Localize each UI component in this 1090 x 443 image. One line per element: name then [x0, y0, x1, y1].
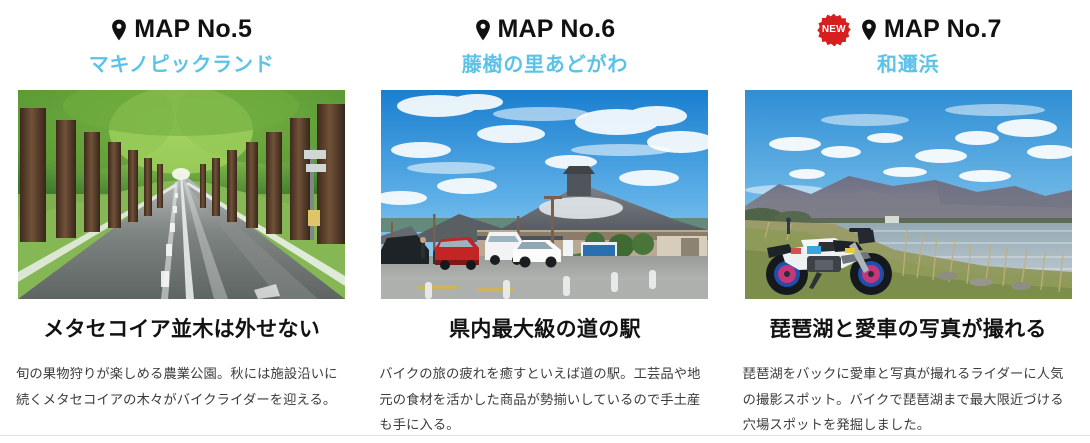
spot-photo-metasequoia-road[interactable]	[18, 90, 345, 299]
spot-photo-roadside-station[interactable]	[381, 90, 708, 299]
card-description: 旬の果物狩りが楽しめる農業公園。秋には施設沿いに続くメタセコイアの木々がバイクラ…	[15, 361, 348, 412]
map-number-label: MAP No.7	[884, 16, 1002, 44]
spot-photo-lake-biwa-motorcycle[interactable]	[745, 90, 1072, 299]
spot-name-label: マキノピックランド	[15, 53, 348, 77]
card-header: MAP No.6 藤樹の里あどがわ	[378, 0, 711, 77]
map-pin-icon	[111, 19, 127, 41]
spot-name-label: 藤樹の里あどがわ	[378, 53, 711, 77]
map-number-label: MAP No.5	[134, 16, 252, 44]
spot-name-label: 和邇浜	[742, 53, 1075, 77]
card-header: NEW MAP No.7 和邇浜	[742, 0, 1075, 77]
card-title: メタセコイア並木は外せない	[15, 317, 348, 343]
card-title: 県内最大級の道の駅	[378, 317, 711, 343]
card-description: バイクの旅の疲れを癒すといえば道の駅。工芸品や地元の食材を活かした商品が勢揃いし…	[378, 361, 711, 438]
bottom-divider	[0, 435, 1090, 436]
card-title: 琵琶湖と愛車の写真が撮れる	[742, 317, 1075, 343]
map-number-label: MAP No.6	[498, 16, 616, 44]
new-badge-label: NEW	[822, 25, 846, 35]
spot-card-map-no-5[interactable]: MAP No.5 マキノピックランド	[0, 0, 363, 438]
card-description: 琵琶湖をバックに愛車と写真が撮れるライダーに人気の撮影スポット。バイクで琵琶湖ま…	[742, 361, 1075, 438]
spot-card-map-no-6[interactable]: MAP No.6 藤樹の里あどがわ	[363, 0, 726, 438]
spot-card-grid: MAP No.5 マキノピックランド	[0, 0, 1090, 438]
map-label-row: MAP No.6	[378, 13, 711, 47]
map-label-row: NEW MAP No.7	[742, 13, 1075, 47]
card-header: MAP No.5 マキノピックランド	[15, 0, 348, 77]
new-badge: NEW	[815, 11, 853, 49]
map-pin-icon	[861, 19, 877, 41]
spot-card-map-no-7[interactable]: NEW MAP No.7 和邇浜	[727, 0, 1090, 438]
map-pin-icon	[475, 19, 491, 41]
map-label-row: MAP No.5	[15, 13, 348, 47]
